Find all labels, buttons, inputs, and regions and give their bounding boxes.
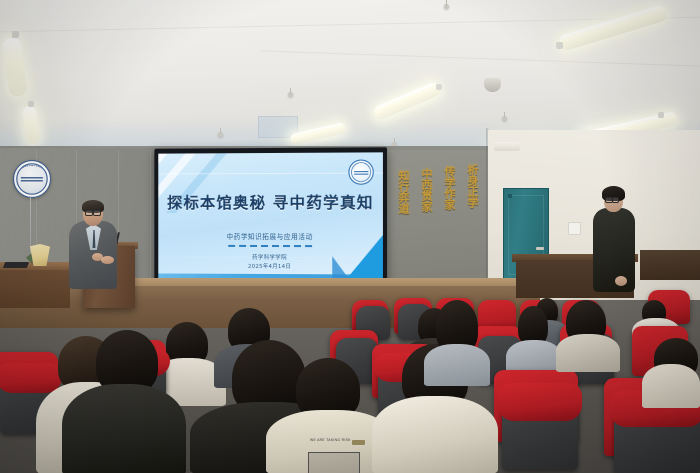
tshirt-graphic	[308, 452, 360, 473]
sprinkler-head	[288, 92, 293, 97]
seat-cushion	[498, 383, 582, 421]
calligraphy-column-4: 知行弈道	[397, 170, 408, 238]
door-handle[interactable]	[536, 247, 544, 250]
ceiling-light-cap	[658, 112, 664, 118]
front-table	[0, 268, 70, 308]
sprinkler-head	[218, 132, 223, 137]
calligraphy-column-2: 传学作家	[443, 166, 454, 234]
slide-main-title: 探标本馆奥秘 寻中药学真知	[158, 191, 383, 213]
projected-slide: 探标本馆奥秘 寻中药学真知 中药学知识拓展与应用活动 药学科学学院 2025年4…	[158, 152, 383, 284]
ceiling-light-cap	[556, 42, 563, 49]
tshirt-print-line1: WE ARE TAKING RISK	[310, 438, 351, 442]
presenter-glasses	[85, 210, 101, 214]
presenter-hand	[101, 256, 114, 264]
standing-student-hand	[615, 276, 627, 286]
wall-mounted-fixture	[494, 142, 520, 151]
wall-seam	[150, 150, 151, 290]
lecture-hall-photo: 析身正学 传学作家 中西贯家 知行弈道 探标本馆奥秘 寻中药学真知 中药学知识拓…	[0, 0, 700, 473]
sprinkler-head	[444, 4, 449, 9]
emblem-crest	[21, 171, 43, 187]
calligraphy-column-1: 析身正学	[466, 164, 477, 232]
slide-university-seal-logo	[348, 159, 373, 184]
projector-screen-frame: 探标本馆奥秘 寻中药学真知 中药学知识拓展与应用活动 药学科学学院 2025年4…	[154, 147, 387, 290]
ceiling-light-cap	[12, 31, 19, 38]
laptop-on-table	[3, 262, 29, 268]
standing-student-body	[593, 208, 635, 292]
seat-row-front[interactable]	[502, 388, 578, 470]
standing-student-glasses	[605, 197, 619, 201]
slide-logo-crest	[354, 168, 369, 178]
audience-shoulders	[556, 334, 620, 372]
ceiling-light-cap	[436, 84, 442, 90]
slide-divider-dashes	[228, 245, 312, 248]
audience-shoulders	[642, 364, 700, 408]
tshirt-print-tag	[352, 440, 365, 445]
audience-shoulders	[62, 384, 186, 473]
seat-cushion	[0, 363, 62, 393]
rear-table	[640, 250, 700, 280]
audience-shoulders	[424, 344, 490, 386]
door-plate	[508, 194, 512, 198]
university-emblem	[13, 160, 51, 198]
wall-light-switch[interactable]	[568, 222, 581, 235]
ceiling-light-cap	[28, 101, 34, 107]
sprinkler-head	[502, 116, 507, 121]
calligraphy-column-3: 中西贯家	[420, 168, 431, 236]
audience-shoulders	[372, 396, 498, 473]
